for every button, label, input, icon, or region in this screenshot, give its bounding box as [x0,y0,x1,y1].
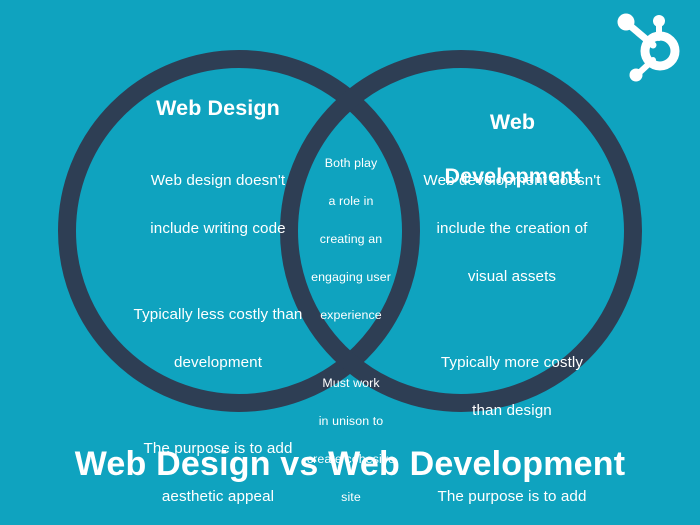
overlap-line-9: site [297,488,405,507]
right-line-5: than design [372,399,652,423]
right-spacer-1 [372,313,652,327]
overlap-line-1: Both play [297,154,405,173]
overlap-line-2: a role in [297,192,405,211]
overlap-line-6: Must work [297,374,405,393]
hubspot-sprocket-logo [612,8,686,82]
infographic-canvas: Web Design Web design doesn't include wr… [0,0,700,525]
right-line-6: The purpose is to add [372,485,652,509]
right-line-3: visual assets [372,265,652,289]
right-heading-line-1: Web [390,109,635,136]
overlap-spacer-1 [297,344,405,355]
right-line-1: Web development doesn't [372,169,652,193]
overlap-line-4: engaging user [297,268,405,287]
left-circle-heading: Web Design [78,95,358,122]
overlap-line-3: creating an [297,230,405,249]
overlap-line-7: in unison to [297,412,405,431]
page-title: Web Design vs Web Development [0,443,700,485]
right-line-4: Typically more costly [372,351,652,375]
right-line-2: include the creation of [372,217,652,241]
overlap-line-5: experience [297,306,405,325]
